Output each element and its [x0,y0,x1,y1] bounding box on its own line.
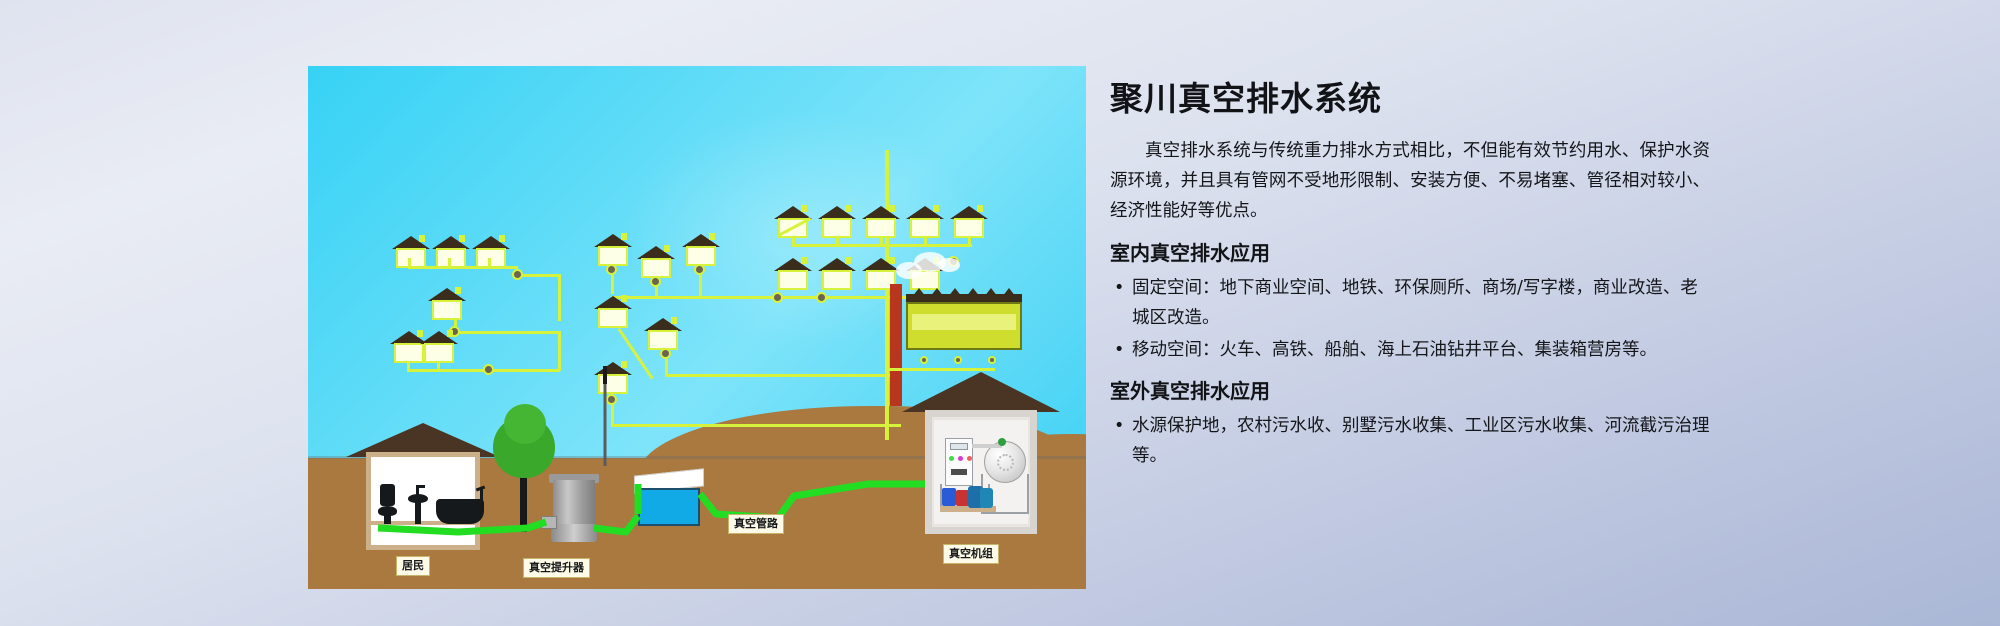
system-diagram: 居民 真空提升器 真空管路 真空机组 [308,66,1086,589]
valve-icon [998,438,1006,446]
vacuum-pipe-segment [594,516,638,532]
outdoor-bullet-list: • 水源保护地，农村污水收、别墅污水收集、工业区污水收集、河流截污治理等。 [1110,411,1710,471]
label-resident: 居民 [396,556,430,576]
page-title: 聚川真空排水系统 [1110,72,1710,120]
list-item-text: 水源保护地，农村污水收、别墅污水收集、工业区污水收集、河流截污治理等。 [1132,416,1710,466]
content-column: 聚川真空排水系统 真空排水系统与传统重力排水方式相比，不但能有效节约用水、保护水… [1110,72,1710,473]
list-item-text: 移动空间：火车、高铁、船舶、海上石油钻井平台、集装箱营房等。 [1132,340,1657,360]
label-vacuum-lifter: 真空提升器 [523,558,590,578]
list-item: • 固定空间：地下商业空间、地铁、环保厕所、商场/写字楼，商业改造、老城区改造。 [1110,273,1710,333]
indoor-drain-pipe [378,522,546,532]
list-item: • 移动空间：火车、高铁、船舶、海上石油钻井平台、集装箱营房等。 [1110,335,1710,365]
section-heading-outdoor: 室外真空排水应用 [1110,375,1710,404]
panel-nameplate [951,469,967,475]
list-item: • 水源保护地，农村污水收、别墅污水收集、工业区污水收集、河流截污治理等。 [1110,411,1710,471]
label-vacuum-pipeline: 真空管路 [728,514,784,534]
list-item-text: 固定空间：地下商业空间、地铁、环保厕所、商场/写字楼，商业改造、老城区改造。 [1132,278,1698,328]
bullet-marker: • [1114,335,1124,365]
indicator-led-magenta [958,456,963,461]
vacuum-pipe-main [700,484,908,518]
pump-icon [942,488,956,506]
panel-display [950,443,968,450]
label-vacuum-unit: 真空机组 [943,544,999,564]
indicator-led-green [949,456,954,461]
vacuum-station-roof [902,372,1060,412]
station-pipe [972,444,1002,448]
intro-paragraph: 真空排水系统与传统重力排水方式相比，不但能有效节约用水、保护水资源环境，并且具有… [1110,136,1710,226]
slide-canvas: 居民 真空提升器 真空管路 真空机组 聚川真空排水系统 真空排水系统与传统重力排… [0,0,2000,626]
pump-icon [980,488,993,508]
section-heading-indoor: 室内真空排水应用 [1110,237,1710,266]
bullet-marker: • [1114,411,1124,441]
indicator-led-red [967,456,972,461]
indoor-bullet-list: • 固定空间：地下商业空间、地铁、环保厕所、商场/写字楼，商业改造、老城区改造。… [1110,273,1710,365]
tank-hatch [997,454,1014,471]
bullet-marker: • [1114,273,1124,303]
